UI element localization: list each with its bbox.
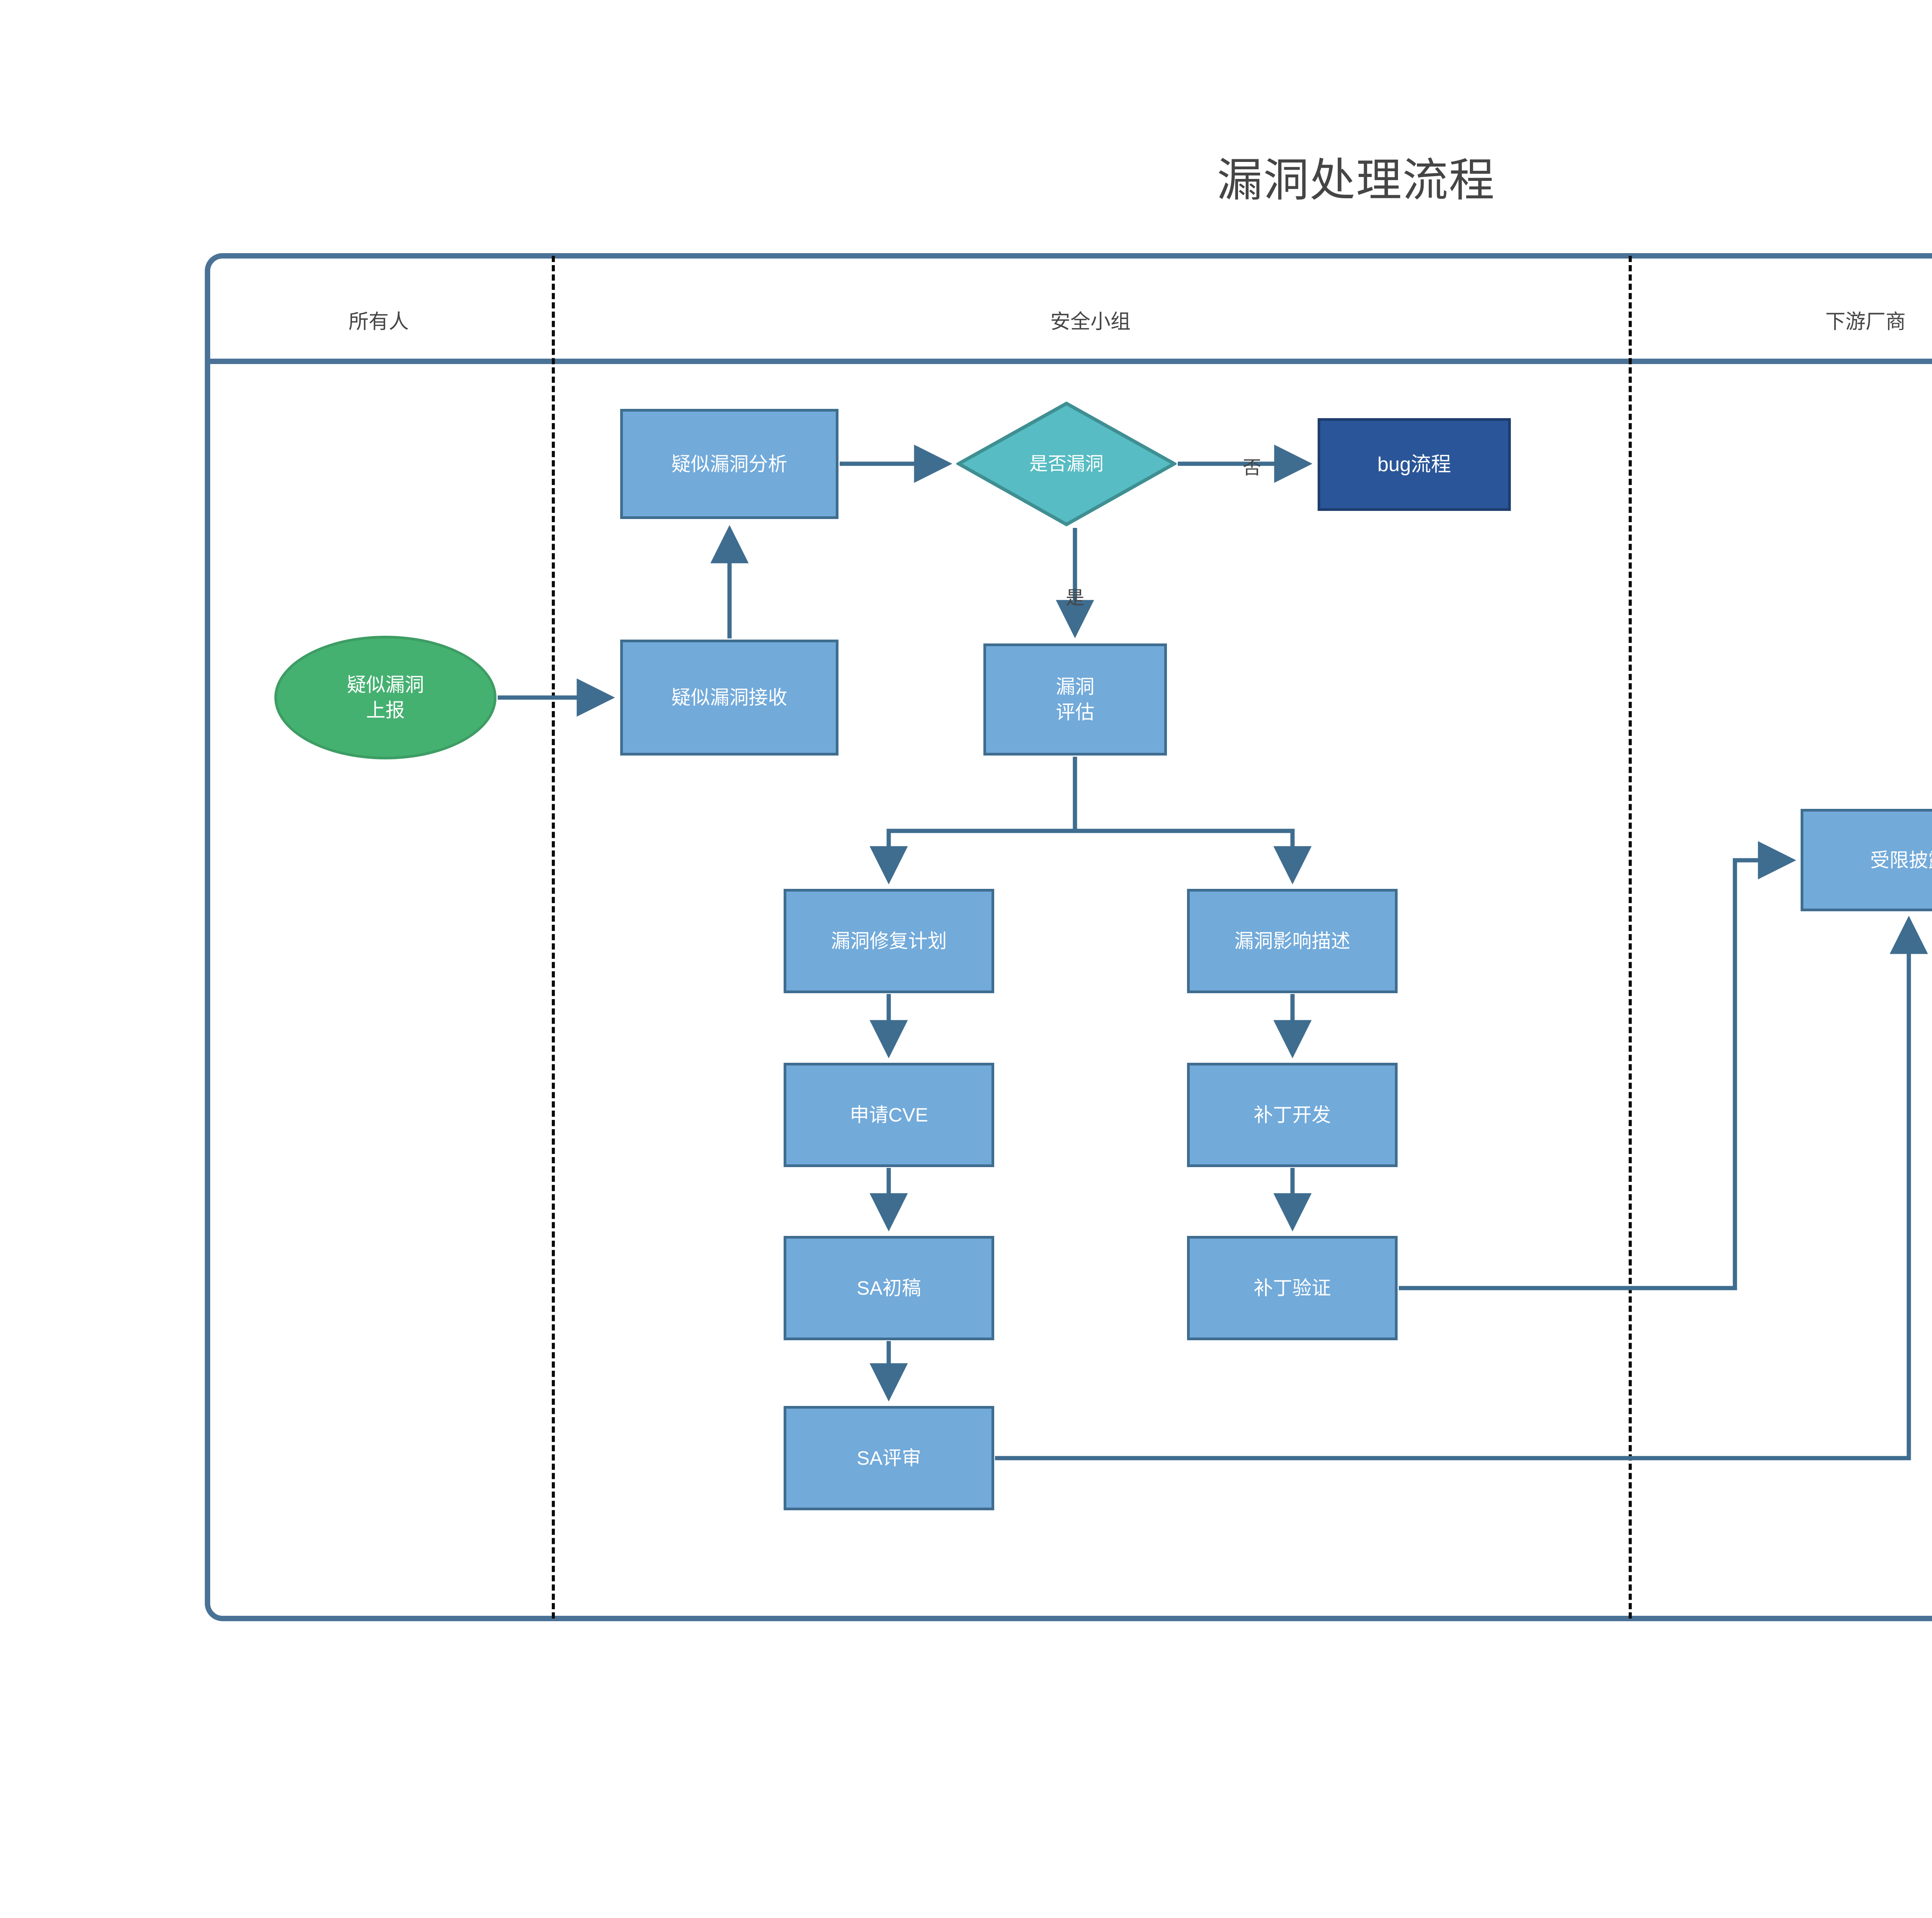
edge-label-no: 否 <box>1243 452 1261 479</box>
node-sa-draft[interactable]: SA初稿 <box>784 1236 994 1340</box>
node-patch-development[interactable]: 补丁开发 <box>1187 1063 1398 1167</box>
node-label: 补丁验证 <box>1254 1275 1331 1301</box>
node-label: 疑似漏洞接收 <box>672 685 787 710</box>
node-label: 漏洞影响描述 <box>1235 928 1350 954</box>
node-suspected-vuln-analysis[interactable]: 疑似漏洞分析 <box>620 409 838 519</box>
node-is-vulnerability-decision[interactable]: 是否漏洞 <box>956 401 1177 527</box>
node-label: 漏洞 评估 <box>1056 674 1095 725</box>
lane-label-downstream-vendor: 下游厂商 <box>1825 305 1906 334</box>
node-vulnerability-fix-plan[interactable]: 漏洞修复计划 <box>784 889 994 993</box>
node-suspected-vuln-receive[interactable]: 疑似漏洞接收 <box>620 640 838 756</box>
node-label: 受限披露 <box>1870 848 1932 873</box>
node-label: 疑似漏洞分析 <box>672 451 787 477</box>
node-patch-verification[interactable]: 补丁验证 <box>1187 1236 1398 1340</box>
lane-label-owner-left: 所有人 <box>349 305 409 334</box>
node-label: SA初稿 <box>857 1275 921 1301</box>
node-label: 疑似漏洞 上报 <box>347 672 424 723</box>
node-suspected-vuln-report[interactable]: 疑似漏洞 上报 <box>274 636 497 759</box>
edge-label-yes: 是 <box>1066 582 1084 609</box>
node-label: 申请CVE <box>850 1102 928 1128</box>
node-bug-process[interactable]: bug流程 <box>1318 418 1511 511</box>
lane-label-security-team: 安全小组 <box>1050 305 1131 334</box>
node-vulnerability-impact-description[interactable]: 漏洞影响描述 <box>1187 889 1398 993</box>
lane-divider-1 <box>552 256 555 1618</box>
node-label: bug流程 <box>1378 451 1451 478</box>
node-sa-review[interactable]: SA评审 <box>784 1406 994 1510</box>
node-limited-disclosure[interactable]: 受限披露 <box>1801 809 1932 911</box>
node-label: SA评审 <box>857 1445 921 1471</box>
node-label: 补丁开发 <box>1254 1102 1331 1128</box>
page-title: 漏洞处理流程 <box>0 143 1932 209</box>
node-vulnerability-assessment[interactable]: 漏洞 评估 <box>983 643 1167 756</box>
node-apply-cve[interactable]: 申请CVE <box>784 1063 994 1167</box>
node-label: 是否漏洞 <box>1029 452 1104 476</box>
lane-divider-2 <box>1629 256 1632 1618</box>
swimlane-header-divider <box>210 359 1932 364</box>
flowchart-canvas: 漏洞处理流程 所有人 安全小组 下游厂商 所有人 <box>0 0 1932 1918</box>
node-label: 漏洞修复计划 <box>831 928 947 954</box>
